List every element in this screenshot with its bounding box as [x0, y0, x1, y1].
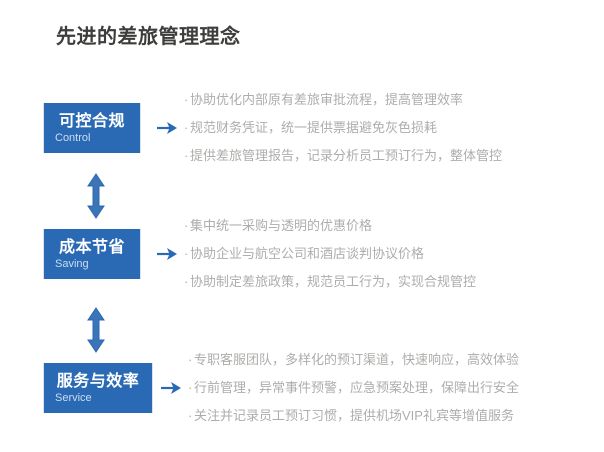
- section-label-box-control[interactable]: 可控合规 Control: [43, 103, 141, 153]
- bullet-text: 协助优化内部原有差旅审批流程，提高管理效率: [190, 92, 463, 107]
- section-label-box-service[interactable]: 服务与效率 Service: [43, 363, 153, 413]
- bullet-line: ·协助优化内部原有差旅审批流程，提高管理效率: [184, 86, 502, 114]
- section-label-en-saving: Saving: [55, 257, 89, 271]
- bullet-line: ·专职客服团队，多样化的预订渠道，快速响应，高效体验: [188, 346, 519, 374]
- section-bullets-control: ·协助优化内部原有差旅审批流程，提高管理效率 ·规范财务凭证，统一提供票据避免灰…: [184, 86, 502, 170]
- section-bullets-saving: ·集中统一采购与透明的优惠价格 ·协助企业与航空公司和酒店谈判协议价格 ·协助制…: [184, 212, 476, 296]
- section-label-en-service: Service: [55, 391, 92, 405]
- updown-double-arrow-icon: [82, 173, 110, 219]
- bullet-line: ·关注并记录员工预订习惯，提供机场VIP礼宾等增值服务: [188, 402, 519, 430]
- bullet-text: 提供差旅管理报告，记录分析员工预订行为，整体管控: [190, 148, 502, 163]
- page-title: 先进的差旅管理理念: [56, 20, 241, 49]
- bullet-text: 协助制定差旅政策，规范员工行为，实现合规管控: [190, 274, 476, 289]
- bullet-line: ·协助企业与航空公司和酒店谈判协议价格: [184, 240, 476, 268]
- section-label-cn-saving: 成本节省: [59, 238, 125, 257]
- section-row-service: 服务与效率 Service ·专职客服团队，多样化的预订渠道，快速响应，高效体验…: [0, 348, 604, 448]
- bullet-line: ·提供差旅管理报告，记录分析员工预订行为，整体管控: [184, 142, 502, 170]
- bullet-text: 集中统一采购与透明的优惠价格: [190, 218, 372, 233]
- slide-canvas: 先进的差旅管理理念 可控合规 Control ·协助优化内部原有差旅审批流程，提…: [0, 0, 604, 452]
- bullet-line: ·协助制定差旅政策，规范员工行为，实现合规管控: [184, 268, 476, 296]
- arrow-right-icon: [156, 118, 180, 138]
- bullet-text: 关注并记录员工预订习惯，提供机场VIP礼宾等增值服务: [194, 408, 514, 423]
- bullet-line: ·集中统一采购与透明的优惠价格: [184, 212, 476, 240]
- section-label-box-saving[interactable]: 成本节省 Saving: [43, 229, 141, 279]
- bullet-text: 专职客服团队，多样化的预订渠道，快速响应，高效体验: [194, 352, 519, 367]
- section-bullets-service: ·专职客服团队，多样化的预订渠道，快速响应，高效体验 ·行前管理，异常事件预警，…: [188, 346, 519, 430]
- section-row-saving: 成本节省 Saving ·集中统一采购与透明的优惠价格 ·协助企业与航空公司和酒…: [0, 214, 604, 314]
- bullet-text: 行前管理，异常事件预警，应急预案处理，保障出行安全: [194, 380, 519, 395]
- updown-double-arrow-icon: [82, 307, 110, 353]
- section-label-cn-control: 可控合规: [59, 112, 125, 131]
- bullet-line: ·行前管理，异常事件预警，应急预案处理，保障出行安全: [188, 374, 519, 402]
- bullet-line: ·规范财务凭证，统一提供票据避免灰色损耗: [184, 114, 502, 142]
- bullet-text: 规范财务凭证，统一提供票据避免灰色损耗: [190, 120, 437, 135]
- arrow-right-icon: [156, 244, 180, 264]
- section-label-en-control: Control: [55, 131, 90, 145]
- bullet-text: 协助企业与航空公司和酒店谈判协议价格: [190, 246, 424, 261]
- arrow-right-icon: [160, 378, 184, 398]
- section-label-cn-service: 服务与效率: [57, 372, 140, 391]
